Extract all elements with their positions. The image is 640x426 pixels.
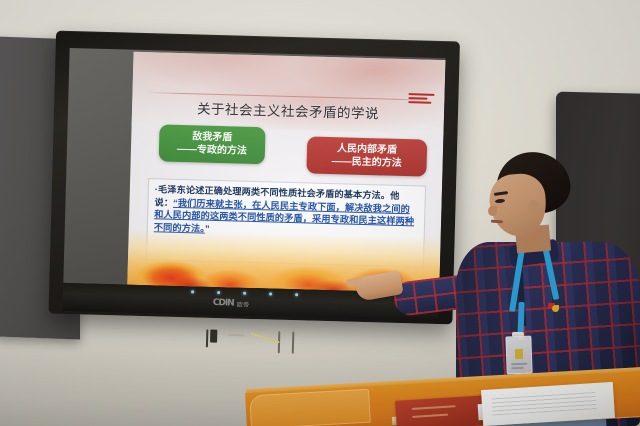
- slide-body-quote: 我们历来就主张，在人民民主专政下面，解决敌我之间的和人民内部的这两类不同性质的矛…: [154, 198, 415, 234]
- display-brand: CDIN 欧帝: [213, 298, 250, 309]
- id-badge: [505, 336, 532, 375]
- brand-logo-mark: CDIN: [213, 298, 234, 309]
- presenter-ear: [528, 200, 540, 216]
- tag-enemy-line1: 敌我矛盾: [192, 131, 232, 143]
- red-book[interactable]: [395, 395, 489, 426]
- tag-internal-line1: 人民内部矛盾: [337, 143, 397, 156]
- tag-enemy-line2: ——专政的方法: [167, 143, 257, 158]
- presenter-nose: [488, 206, 497, 216]
- screenshot-scene: 关于社会主义社会矛盾的学说 敌我矛盾 ——专政的方法 人民内部矛盾 ——民主的方…: [0, 0, 640, 426]
- brand-logo-cn: 欧帝: [237, 299, 250, 308]
- party-emblem-pin-icon: [548, 302, 559, 313]
- display-indicator-leds: [191, 290, 301, 298]
- tag-enemy-contradiction[interactable]: 敌我矛盾 ——专政的方法: [159, 124, 266, 164]
- presenter-mouth: [491, 220, 503, 224]
- contradiction-tag-row: 敌我矛盾 ——专政的方法 人民内部矛盾 ——民主的方法: [131, 124, 444, 172]
- desk-side-panel: [249, 389, 371, 426]
- paper-text-lines: [491, 389, 596, 415]
- display-glass[interactable]: 关于社会主义社会矛盾的学说 敌我矛盾 ——专政的方法 人民内部矛盾 ——民主的方…: [63, 48, 445, 293]
